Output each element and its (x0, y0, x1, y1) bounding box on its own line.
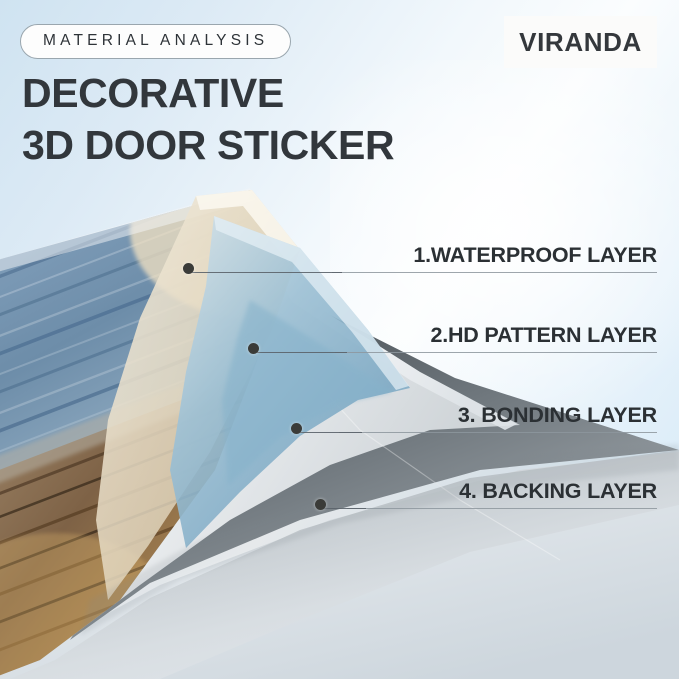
callout-dot-hd-pattern (248, 343, 259, 354)
callout-waterproof: 1.WATERPROOF LAYER (413, 243, 657, 272)
callout-backing: 4. BACKING LAYER (459, 479, 657, 508)
callout-dot-waterproof (183, 263, 194, 274)
callout-bonding: 3. BONDING LAYER (458, 403, 657, 432)
callout-label: 2.HD PATTERN LAYER (430, 323, 657, 352)
title-line-1: DECORATIVE (22, 70, 284, 116)
callout-label: 4. BACKING LAYER (459, 479, 657, 508)
brand-logo: VIRANDA (504, 16, 657, 68)
callout-label: 1.WATERPROOF LAYER (413, 243, 657, 272)
leader-line-backing (324, 508, 366, 509)
callout-dot-bonding (291, 423, 302, 434)
callout-hd-pattern: 2.HD PATTERN LAYER (430, 323, 657, 352)
callout-dot-backing (315, 499, 326, 510)
callout-rule-bonding (339, 432, 657, 433)
page-title: DECORATIVE 3D DOOR STICKER (22, 68, 394, 171)
callout-label: 3. BONDING LAYER (458, 403, 657, 432)
leader-line-waterproof (192, 272, 342, 273)
leader-line-hd-pattern (257, 352, 347, 353)
callout-rule-hd-pattern (335, 352, 657, 353)
eyebrow-badge: MATERIAL ANALYSIS (20, 24, 291, 59)
infographic-poster: MATERIAL ANALYSIS DECORATIVE 3D DOOR STI… (0, 0, 679, 679)
callout-rule-backing (347, 508, 657, 509)
brand-name: VIRANDA (519, 27, 642, 58)
callout-rule-waterproof (332, 272, 657, 273)
leader-line-bonding (300, 432, 362, 433)
title-line-2: 3D DOOR STICKER (22, 120, 394, 172)
